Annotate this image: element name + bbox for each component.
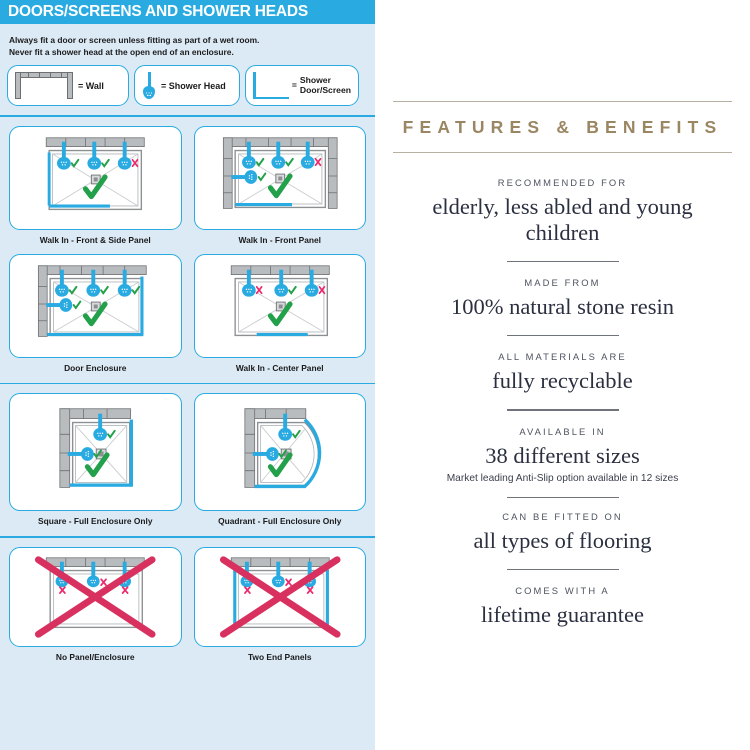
diagram-caption: Walk In - Front & Side Panel	[9, 235, 182, 245]
diagram-illustration	[195, 127, 366, 229]
diagram-illustration	[10, 255, 181, 357]
feature-separator	[507, 497, 619, 498]
diagram-two-end-panels: Two End Panels	[194, 547, 367, 662]
diagram-card	[9, 547, 182, 647]
diagram-walk-in-front-panel: Walk In - Front Panel	[194, 126, 367, 245]
feature-main: elderly, less abled and young children	[393, 194, 732, 246]
legend-item-shower-door: = Shower Door/Screen	[245, 65, 359, 106]
feature-separator	[507, 335, 619, 336]
intro-line-2: Never fit a shower head at the open end …	[9, 46, 366, 58]
feature-main: lifetime guarantee	[393, 602, 732, 628]
feature-item-made-from: MADE FROM 100% natural stone resin	[393, 277, 732, 320]
doors-screens-panel: DOORS/SCREENS AND SHOWER HEADS Always fi…	[0, 0, 375, 750]
diagram-card	[9, 254, 182, 358]
diagram-illustration	[195, 394, 366, 510]
diagram-caption: Door Enclosure	[9, 363, 182, 373]
diagram-caption: Square - Full Enclosure Only	[9, 516, 182, 526]
diagram-caption: Quadrant - Full Enclosure Only	[194, 516, 367, 526]
feature-separator	[507, 569, 619, 570]
feature-eyebrow: ALL MATERIALS ARE	[393, 351, 732, 362]
legend-equals-sign: =	[292, 81, 297, 91]
feature-separator	[507, 409, 619, 410]
feature-eyebrow: MADE FROM	[393, 277, 732, 288]
diagram-illustration	[10, 394, 181, 510]
shower-door-screen-icon	[253, 72, 290, 99]
diagram-row-3: Square - Full Enclosure Only	[0, 384, 375, 526]
diagram-card	[194, 126, 367, 230]
diagram-illustration	[10, 548, 181, 646]
diagram-row-4: No Panel/Enclosure	[0, 538, 375, 662]
feature-item-available-in: AVAILABLE IN 38 different sizes Market l…	[393, 426, 732, 484]
diagram-illustration	[10, 127, 181, 229]
wall-icon	[15, 72, 73, 99]
feature-main: fully recyclable	[393, 368, 732, 394]
legend-label-shower-door-line2: Door/Screen	[300, 86, 351, 96]
diagram-door-enclosure: Door Enclosure	[9, 254, 182, 373]
features-list: RECOMMENDED FOR elderly, less abled and …	[393, 153, 732, 628]
diagram-walk-in-front-and-side-panel: Walk In - Front & Side Panel	[9, 126, 182, 245]
diagram-card	[194, 254, 367, 358]
page-root: DOORS/SCREENS AND SHOWER HEADS Always fi…	[0, 0, 750, 750]
feature-separator	[507, 261, 619, 262]
features-benefits-title: FEATURES & BENEFITS	[393, 102, 732, 152]
diagram-illustration	[195, 548, 366, 646]
legend-label-shower-head: = Shower Head	[161, 81, 226, 91]
feature-item-comes-with-a: COMES WITH A lifetime guarantee	[393, 585, 732, 628]
intro-line-1: Always fit a door or screen unless fitti…	[9, 34, 366, 46]
diagram-card	[194, 393, 367, 511]
feature-eyebrow: AVAILABLE IN	[393, 426, 732, 437]
feature-main: 100% natural stone resin	[393, 294, 732, 320]
features-benefits-header: FEATURES & BENEFITS	[393, 0, 732, 153]
feature-subtext: Market leading Anti-Slip option availabl…	[393, 473, 732, 484]
panel-header: DOORS/SCREENS AND SHOWER HEADS	[0, 0, 375, 24]
feature-item-can-be-fitted-on: CAN BE FITTED ON all types of flooring	[393, 511, 732, 554]
features-benefits-panel: FEATURES & BENEFITS RECOMMENDED FOR elde…	[375, 0, 750, 750]
legend-item-wall: = Wall	[7, 65, 129, 106]
diagram-row-2: Door Enclosure	[0, 245, 375, 373]
diagram-illustration	[195, 255, 366, 357]
diagram-card	[194, 547, 367, 647]
diagram-caption: Walk In - Front Panel	[194, 235, 367, 245]
diagram-caption: Walk In - Center Panel	[194, 363, 367, 373]
diagram-card	[9, 126, 182, 230]
feature-item-recommended-for: RECOMMENDED FOR elderly, less abled and …	[393, 177, 732, 246]
diagram-card	[9, 393, 182, 511]
shower-head-icon	[142, 72, 156, 100]
diagram-quadrant-full-enclosure-only: Quadrant - Full Enclosure Only	[194, 393, 367, 526]
diagram-no-panel-enclosure: No Panel/Enclosure	[9, 547, 182, 662]
legend-row: = Wall = Shower Head = Shower Door/Scree…	[0, 64, 375, 106]
feature-item-all-materials-are: ALL MATERIALS ARE fully recyclable	[393, 351, 732, 394]
diagram-caption: Two End Panels	[194, 652, 367, 662]
feature-eyebrow: COMES WITH A	[393, 585, 732, 596]
feature-eyebrow: CAN BE FITTED ON	[393, 511, 732, 522]
feature-main: all types of flooring	[393, 528, 732, 554]
legend-label-wall: = Wall	[78, 81, 104, 91]
legend-item-shower-head: = Shower Head	[134, 65, 240, 106]
diagram-caption: No Panel/Enclosure	[9, 652, 182, 662]
diagram-walk-in-center-panel: Walk In - Center Panel	[194, 254, 367, 373]
diagram-square-full-enclosure-only: Square - Full Enclosure Only	[9, 393, 182, 526]
feature-eyebrow: RECOMMENDED FOR	[393, 177, 732, 188]
feature-main: 38 different sizes	[393, 443, 732, 469]
panel-title: DOORS/SCREENS AND SHOWER HEADS	[8, 3, 308, 21]
diagram-row-1: Walk In - Front & Side Panel	[0, 117, 375, 245]
intro-text: Always fit a door or screen unless fitti…	[0, 24, 375, 64]
